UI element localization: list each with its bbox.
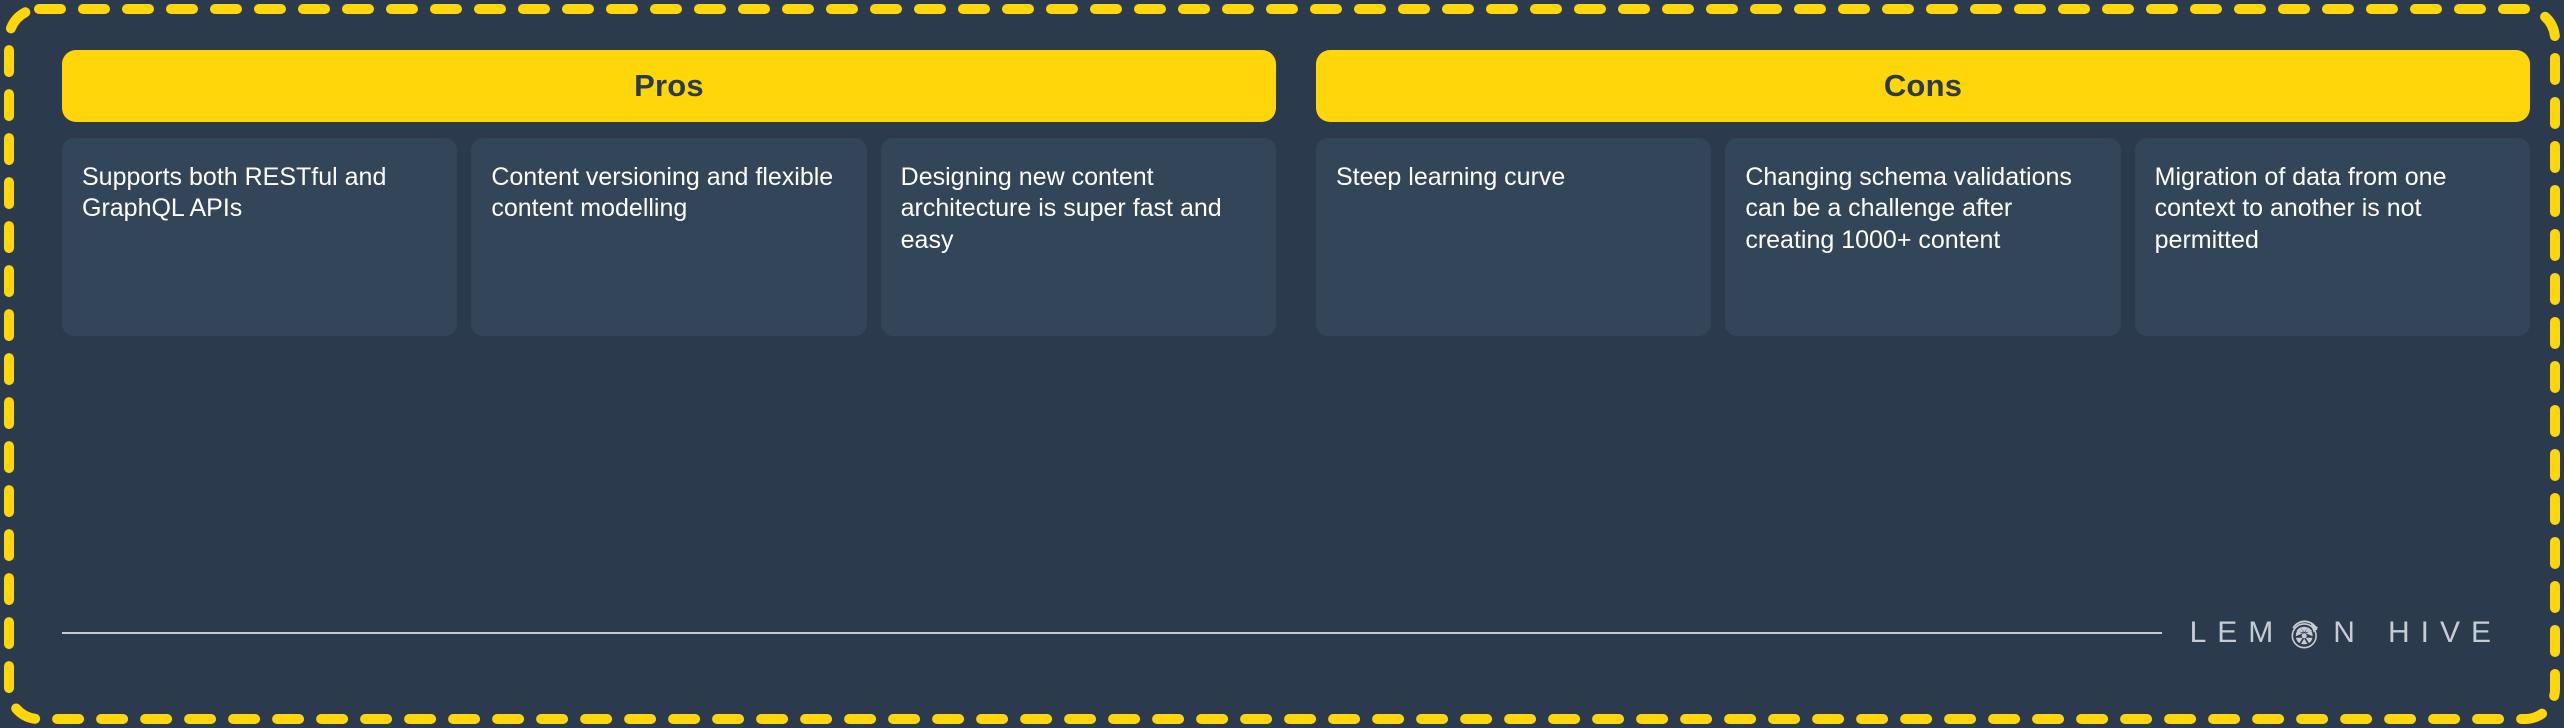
card-text: Content versioning and flexible content … xyxy=(491,162,846,225)
brand-text-lem: LEM xyxy=(2190,616,2285,650)
card-text: Steep learning curve xyxy=(1336,162,1691,193)
card-text: Supports both RESTful and GraphQL APIs xyxy=(82,162,437,225)
brand-text-n: N xyxy=(2333,616,2366,650)
footer: LEM xyxy=(62,614,2502,652)
column-header-cons: Cons xyxy=(1316,50,2530,122)
card: Designing new content architecture is su… xyxy=(881,138,1276,336)
card-text: Designing new content architecture is su… xyxy=(901,162,1256,256)
card: Steep learning curve xyxy=(1316,138,1711,336)
card-text: Changing schema validations can be a cha… xyxy=(1745,162,2100,256)
card: Content versioning and flexible content … xyxy=(471,138,866,336)
card: Migration of data from one context to an… xyxy=(2135,138,2530,336)
card: Changing schema validations can be a cha… xyxy=(1725,138,2120,336)
column-cons: Cons Steep learning curve Changing schem… xyxy=(1316,50,2530,336)
column-pros: Pros Supports both RESTful and GraphQL A… xyxy=(62,50,1276,336)
column-header-pros: Pros xyxy=(62,50,1276,122)
slide-frame: Pros Supports both RESTful and GraphQL A… xyxy=(0,0,2564,728)
pros-cons-columns: Pros Supports both RESTful and GraphQL A… xyxy=(62,50,2530,336)
card-list-pros: Supports both RESTful and GraphQL APIs C… xyxy=(62,138,1276,336)
card-list-cons: Steep learning curve Changing schema val… xyxy=(1316,138,2530,336)
footer-divider xyxy=(62,632,2162,634)
brand-logo: LEM xyxy=(2190,614,2502,652)
slide-canvas: Pros Supports both RESTful and GraphQL A… xyxy=(14,14,2550,714)
card-text: Migration of data from one context to an… xyxy=(2155,162,2510,256)
brand-text-hive: HIVE xyxy=(2388,616,2502,650)
card: Supports both RESTful and GraphQL APIs xyxy=(62,138,457,336)
lemon-slice-icon xyxy=(2286,616,2324,654)
